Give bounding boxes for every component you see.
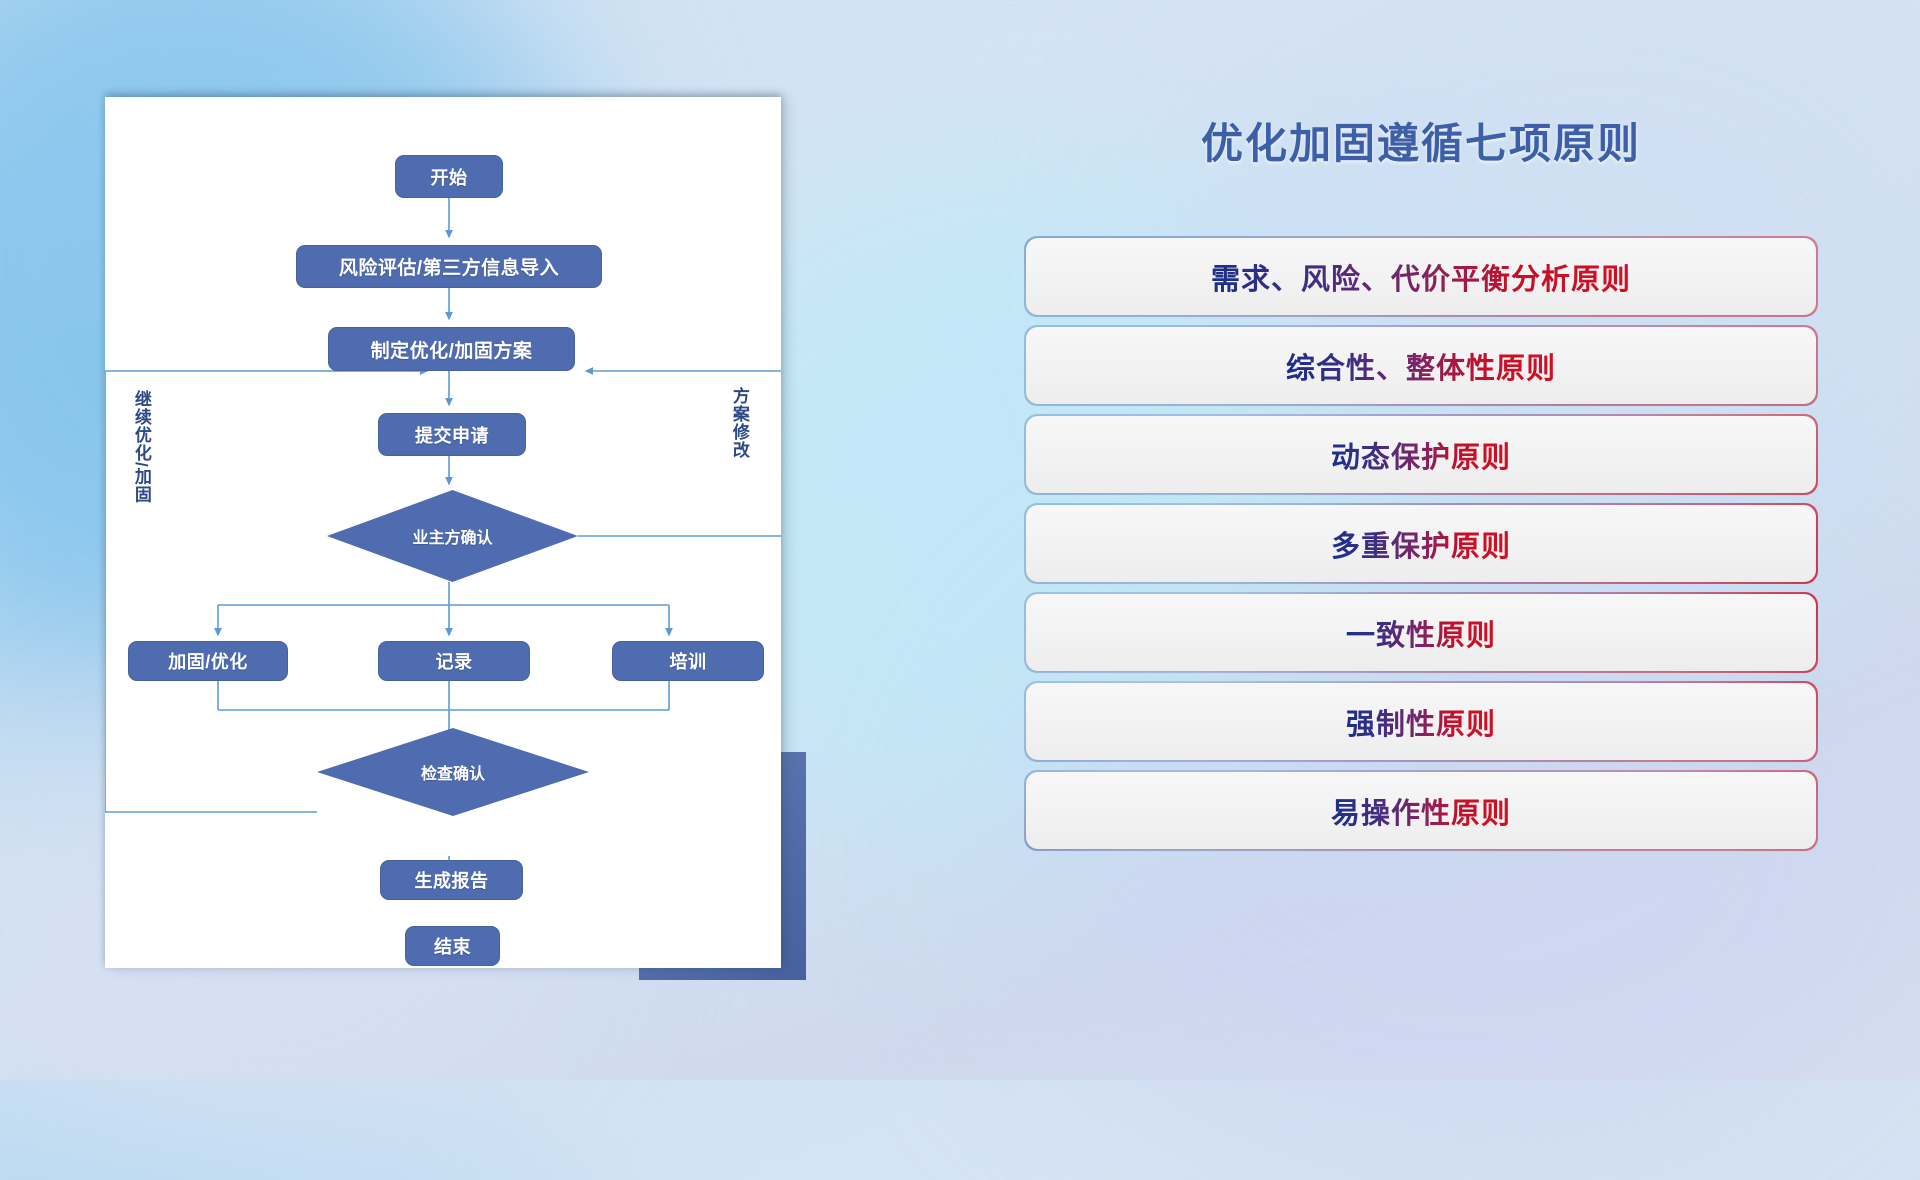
flow-node-reinforce[interactable]: 加固/优化 xyxy=(128,641,288,681)
principle-label: 多重保护原则 xyxy=(1331,523,1511,565)
page-title: 优化加固遵循七项原则 xyxy=(1026,110,1816,171)
flow-node-start[interactable]: 开始 xyxy=(395,155,503,198)
principles-list: 需求、风险、代价平衡分析原则 综合性、整体性原则 动态保护原则 多重保护原则 一… xyxy=(1026,238,1816,861)
principle-label: 易操作性原则 xyxy=(1331,790,1511,832)
principle-card-4[interactable]: 多重保护原则 xyxy=(1026,505,1816,582)
flow-edge-label-continue-optimize: 继续优化/加固 xyxy=(132,390,150,504)
principle-label: 需求、风险、代价平衡分析原则 xyxy=(1211,256,1631,298)
principle-card-6[interactable]: 强制性原则 xyxy=(1026,683,1816,760)
principle-card-2[interactable]: 综合性、整体性原则 xyxy=(1026,327,1816,404)
flow-node-plan[interactable]: 制定优化/加固方案 xyxy=(328,327,575,371)
principle-card-5[interactable]: 一致性原则 xyxy=(1026,594,1816,671)
principle-label: 一致性原则 xyxy=(1346,612,1496,654)
flowchart-card: 开始 风险评估/第三方信息导入 制定优化/加固方案 提交申请 业主方确认 加固/… xyxy=(105,97,781,968)
principle-label: 综合性、整体性原则 xyxy=(1286,345,1556,387)
flow-node-submit-application[interactable]: 提交申请 xyxy=(378,413,526,456)
flow-edge-label-plan-revision: 方案修改 xyxy=(730,387,748,459)
principle-label: 动态保护原则 xyxy=(1331,434,1511,476)
principle-card-7[interactable]: 易操作性原则 xyxy=(1026,772,1816,849)
flow-node-risk-assessment[interactable]: 风险评估/第三方信息导入 xyxy=(296,245,602,288)
flow-node-record[interactable]: 记录 xyxy=(378,641,530,681)
flow-node-generate-report[interactable]: 生成报告 xyxy=(380,860,523,900)
flow-node-end[interactable]: 结束 xyxy=(405,926,500,966)
principle-card-3[interactable]: 动态保护原则 xyxy=(1026,416,1816,493)
principle-card-1[interactable]: 需求、风险、代价平衡分析原则 xyxy=(1026,238,1816,315)
principle-label: 强制性原则 xyxy=(1346,701,1496,743)
flow-node-training[interactable]: 培训 xyxy=(612,641,764,681)
